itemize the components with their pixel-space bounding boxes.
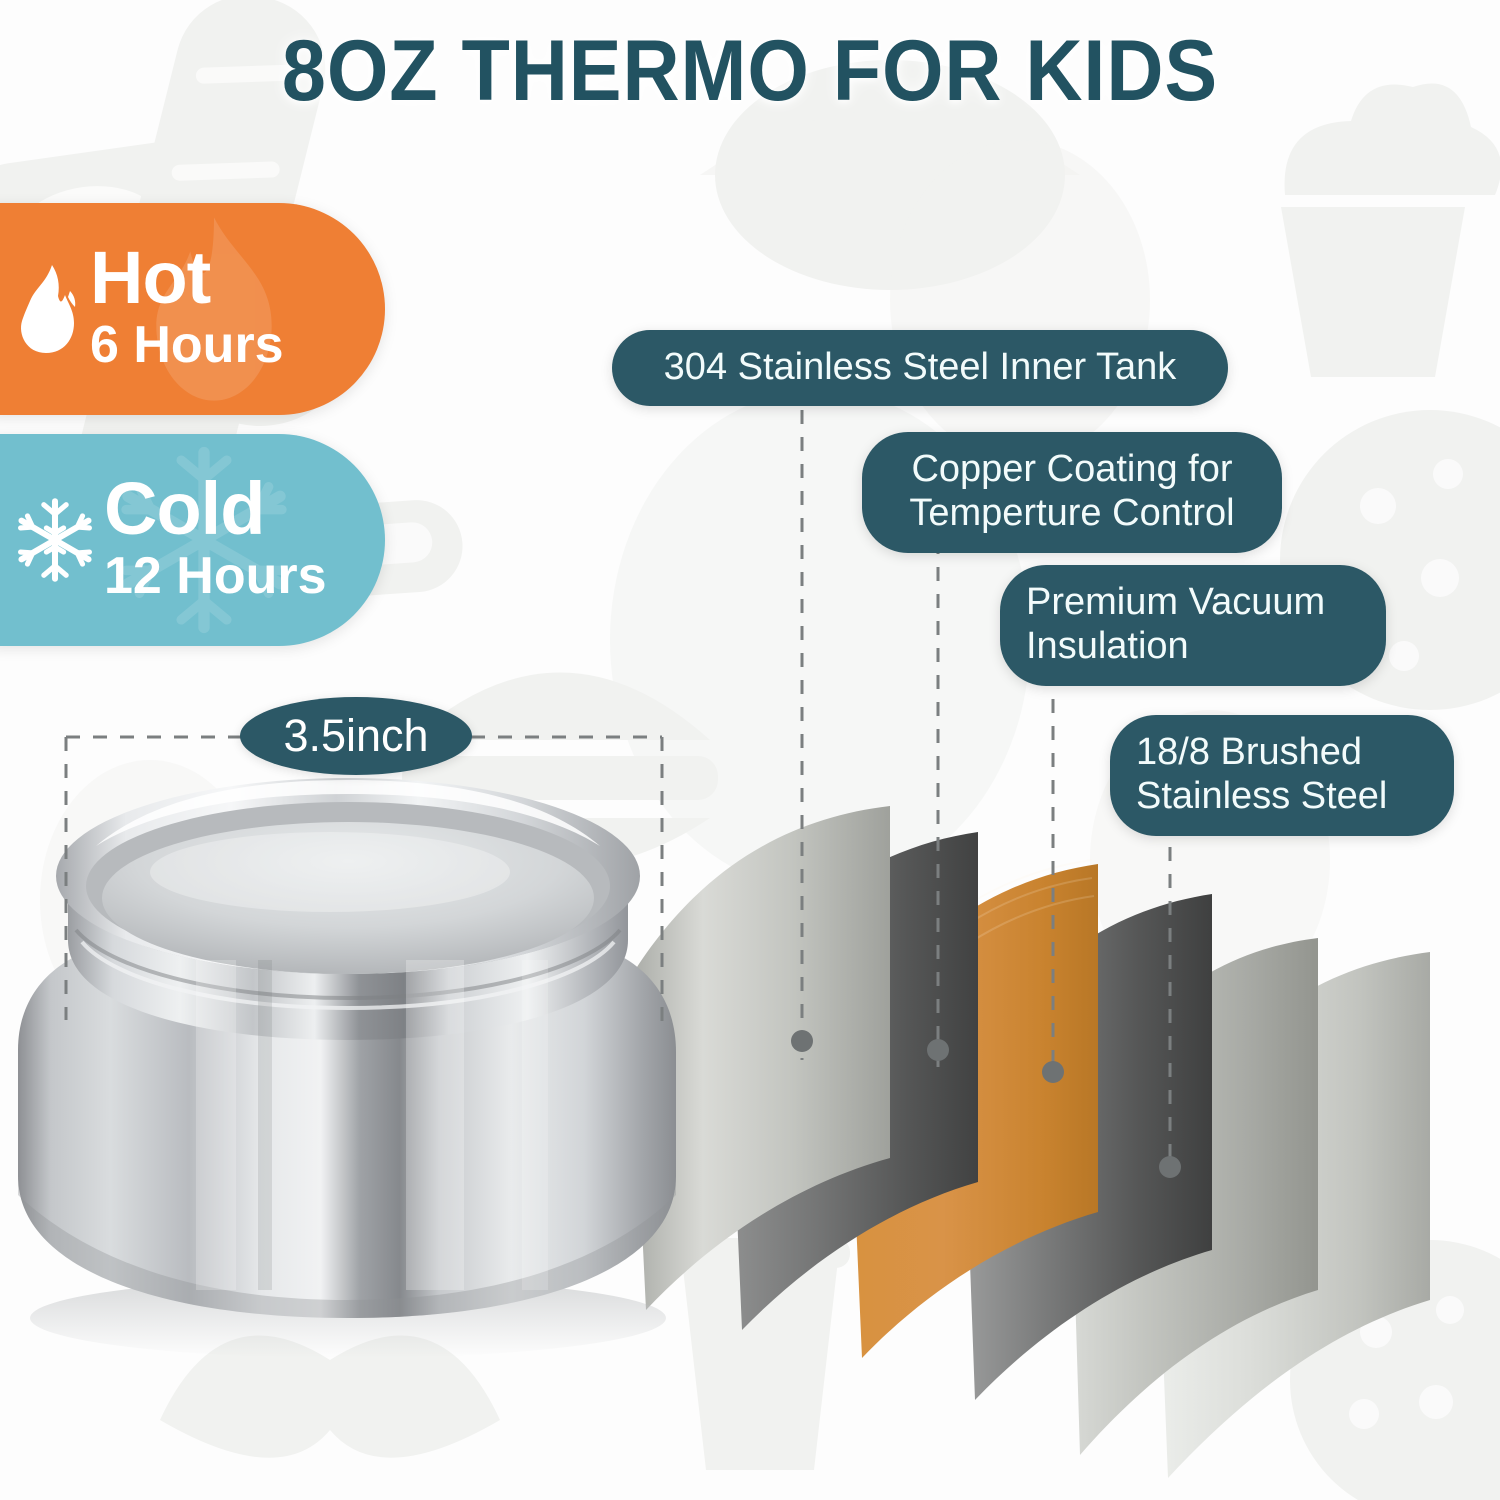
jar-body (18, 942, 676, 1318)
leader-dot-inner-tank (791, 1030, 813, 1052)
layer-light-steel-panel (1070, 938, 1318, 1455)
jar-rim-outer (56, 778, 640, 974)
hot-retention-badge: Hot 6 Hours (0, 203, 385, 415)
hot-text-block: Hot 6 Hours (90, 241, 284, 377)
jar-thread-highlights (82, 942, 614, 1008)
thermos-jar (18, 778, 676, 1358)
hot-label: Hot (90, 241, 284, 315)
layer-vacuum-panel (963, 894, 1212, 1400)
feature-badge-copper-coating: Copper Coating for Temperture Control (862, 432, 1282, 553)
jar-shadow (30, 1278, 666, 1358)
jar-rim-inner-wall (86, 802, 610, 970)
layer-brushed-steel-panel (1155, 952, 1430, 1478)
leader-dot-vacuum (1042, 1061, 1064, 1083)
jar-threads (72, 902, 624, 998)
cold-label: Cold (104, 472, 327, 546)
material-layer-stack (630, 806, 1430, 1478)
product-infographic: 8OZ THERMO FOR KIDS Hot 6 Hours (0, 0, 1500, 1500)
leader-dot-outer-shell (1159, 1156, 1181, 1178)
jar-inner-cavity (102, 822, 594, 974)
cold-duration: 12 Hours (104, 550, 327, 602)
layer-dark-steel-panel (728, 832, 978, 1330)
layer-copper-panel (848, 864, 1098, 1358)
jar-neck (68, 876, 628, 1040)
snowflake-icon (12, 497, 98, 583)
flame-icon (12, 263, 84, 355)
layer-pale-steel-panel (630, 806, 890, 1310)
jar-body-shade (18, 1176, 676, 1318)
hot-duration: 6 Hours (90, 319, 284, 371)
feature-badge-inner-tank: 304 Stainless Steel Inner Tank (612, 330, 1228, 406)
cold-text-block: Cold 12 Hours (104, 472, 327, 608)
leader-dot-copper (927, 1039, 949, 1061)
page-title: 8OZ THERMO FOR KIDS (60, 22, 1440, 121)
feature-badge-vacuum-insulation: Premium Vacuum Insulation (1000, 565, 1386, 686)
dimension-badge: 3.5inch (240, 697, 472, 775)
jar-rim-highlight (96, 780, 600, 846)
jar-cavity-highlight (150, 832, 510, 912)
copper-brush-lines (860, 860, 1094, 1048)
feature-badge-outer-shell: 18/8 Brushed Stainless Steel (1110, 715, 1454, 836)
cold-retention-badge: Cold 12 Hours (0, 434, 385, 646)
jar-body-highlights (196, 960, 548, 1290)
